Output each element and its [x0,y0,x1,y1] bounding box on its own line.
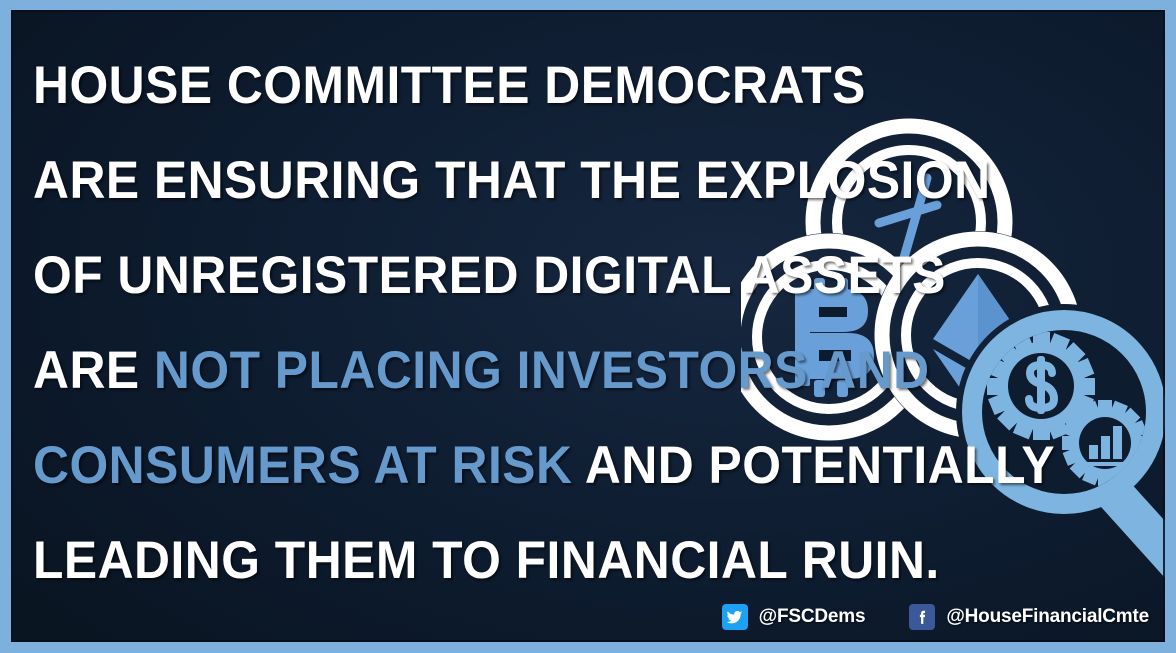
headline-line-5-accent: CONSUMERS AT RISK [33,436,572,495]
social-item-twitter[interactable]: @FSCDems [722,604,866,630]
headline-line-6-white: LEADING THEM TO FINANCIAL RUIN. [33,531,940,590]
twitter-bird-icon[interactable] [722,604,748,630]
facebook-f-icon[interactable] [909,604,935,630]
facebook-handle-text[interactable]: @HouseFinancialCmte [946,606,1149,628]
headline-block: HOUSE COMMITTEE DEMOCRATS ARE ENSURING T… [33,38,745,608]
social-media-graphic-poster: HOUSE COMMITTEE DEMOCRATS ARE ENSURING T… [0,0,1176,653]
social-handles-bar: @FSCDems @HouseFinancialCmte [722,604,1149,630]
poster-inner-panel: HOUSE COMMITTEE DEMOCRATS ARE ENSURING T… [11,10,1165,642]
headline-line-4-white: ARE [33,341,154,400]
headline-line-3-white: OF UNREGISTERED DIGITAL ASSETS [33,246,946,305]
headline-line-1-white: HOUSE COMMITTEE DEMOCRATS [33,56,866,115]
headline-line-6: LEADING THEM TO FINANCIAL RUIN. [33,513,702,608]
headline-line-1: HOUSE COMMITTEE DEMOCRATS [33,38,702,133]
headline-line-3: OF UNREGISTERED DIGITAL ASSETS [33,228,702,323]
headline-line-4-accent: NOT PLACING INVESTORS AND [154,341,930,400]
twitter-handle-text[interactable]: @FSCDems [759,606,866,628]
headline-line-4: ARE NOT PLACING INVESTORS AND [33,323,702,418]
headline-line-5-white: AND POTENTIALLY [572,436,1055,495]
social-item-facebook[interactable]: @HouseFinancialCmte [909,604,1149,630]
headline-line-2: ARE ENSURING THAT THE EXPLOSION [33,133,702,228]
headline-line-5: CONSUMERS AT RISK AND POTENTIALLY [33,418,702,513]
headline-line-2-white: ARE ENSURING THAT THE EXPLOSION [33,151,991,210]
